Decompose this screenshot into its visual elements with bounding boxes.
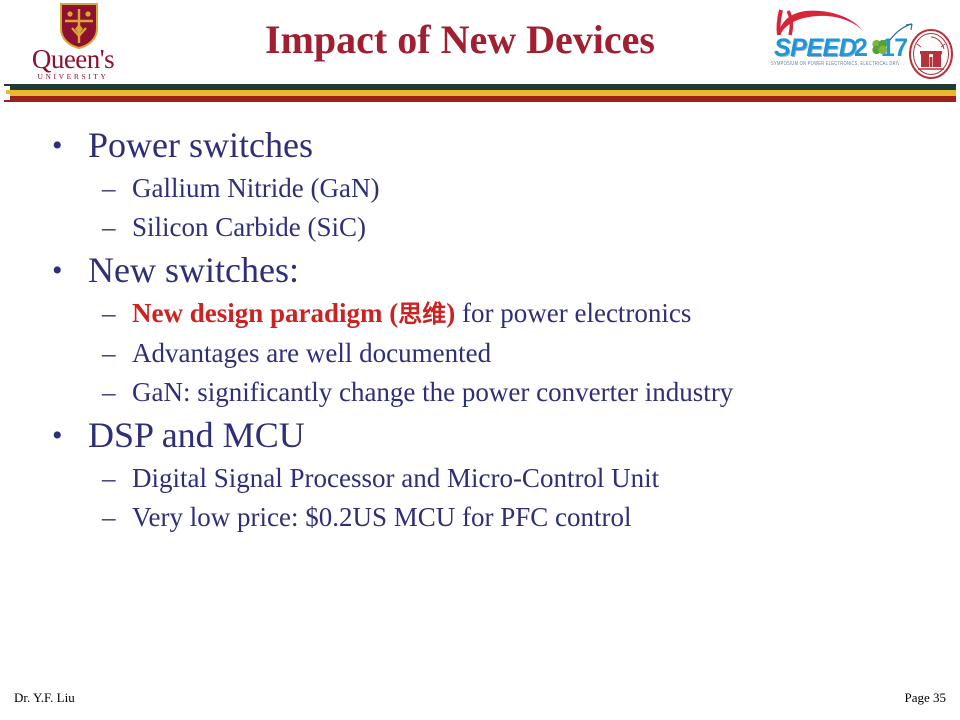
divider-left-tick xyxy=(6,90,10,94)
bullet-level2-text: Silicon Carbide (SiC) xyxy=(132,212,366,242)
bullet-level2-text: for power electronics xyxy=(455,298,691,328)
tricolour-divider-bar xyxy=(4,84,956,102)
slide-header: Queen's UNIVERSITY Impact of New Devices… xyxy=(0,0,960,84)
bullet-marker-dot: • xyxy=(52,122,63,169)
bullet-level2-text: GaN: significantly change the power conv… xyxy=(132,377,733,407)
highlight-pre: New design paradigm ( xyxy=(132,298,398,328)
bullet-marker-dash: – xyxy=(102,294,116,333)
bullet-marker-dash: – xyxy=(102,459,116,498)
bullet-level1: • Power switches xyxy=(36,122,926,169)
highlight-post: ) xyxy=(446,298,455,328)
bullet-level1: • New switches: xyxy=(36,247,926,294)
bullet-marker-dash: – xyxy=(102,373,116,412)
bullet-level2: – Digital Signal Processor and Micro-Con… xyxy=(36,459,926,498)
bullet-level1-text: New switches: xyxy=(88,250,299,290)
footer-page-number: Page 35 xyxy=(904,690,946,706)
bullet-level2-text: Digital Signal Processor and Micro-Contr… xyxy=(132,463,659,493)
bullet-level2-text: Gallium Nitride (GaN) xyxy=(132,173,379,203)
highlight-cjk: 思维 xyxy=(398,300,446,328)
bullet-level2-highlighted: –New design paradigm (思维) for power elec… xyxy=(36,294,926,334)
bullet-level1: • DSP and MCU xyxy=(36,412,926,459)
slide-body: • Power switches – Gallium Nitride (GaN)… xyxy=(36,122,926,537)
slide-canvas: Queen's UNIVERSITY Impact of New Devices… xyxy=(0,0,960,720)
bullet-level2-text: Advantages are well documented xyxy=(132,338,491,368)
bullet-marker-dash: – xyxy=(102,208,116,247)
bullet-level1-text: DSP and MCU xyxy=(88,415,305,455)
university-seal-icon xyxy=(908,28,954,80)
slide-title: Impact of New Devices xyxy=(150,16,770,63)
bullet-level2: – Gallium Nitride (GaN) xyxy=(36,169,926,208)
bullet-level2: – Advantages are well documented xyxy=(36,334,926,373)
speed-wordmark: SPEED xyxy=(774,34,856,63)
divider-band-red xyxy=(4,96,956,102)
queens-university-logo: Queen's UNIVERSITY xyxy=(8,2,138,82)
queens-wordmark: Queen's xyxy=(8,46,138,73)
bullet-marker-dash: – xyxy=(102,169,116,208)
footer-author: Dr. Y.F. Liu xyxy=(14,690,75,706)
bullet-level2: – GaN: significantly change the power co… xyxy=(36,373,926,412)
bullet-marker-dot: • xyxy=(52,247,63,294)
bullet-level1-text: Power switches xyxy=(88,125,313,165)
queens-shield-icon xyxy=(60,3,98,49)
speed-year-prefix: 2 xyxy=(854,34,867,62)
bullet-level2: – Silicon Carbide (SiC) xyxy=(36,208,926,247)
arrow-flourish-icon xyxy=(888,22,914,44)
queens-subword: UNIVERSITY xyxy=(8,72,138,81)
bullet-marker-dash: – xyxy=(102,334,116,373)
speed-2017-logo: SPEED 2017 SYMPOSIUM ON POWER ELECTRONIC… xyxy=(770,8,900,74)
speed-tagline: SYMPOSIUM ON POWER ELECTRONICS, ELECTRIC… xyxy=(771,60,899,66)
bullet-level2-text: Very low price: $0.2US MCU for PFC contr… xyxy=(132,502,631,532)
clover-icon xyxy=(871,38,888,56)
bullet-marker-dash: – xyxy=(102,498,116,537)
bullet-level2: – Very low price: $0.2US MCU for PFC con… xyxy=(36,498,926,537)
bullet-marker-dot: • xyxy=(52,412,63,459)
